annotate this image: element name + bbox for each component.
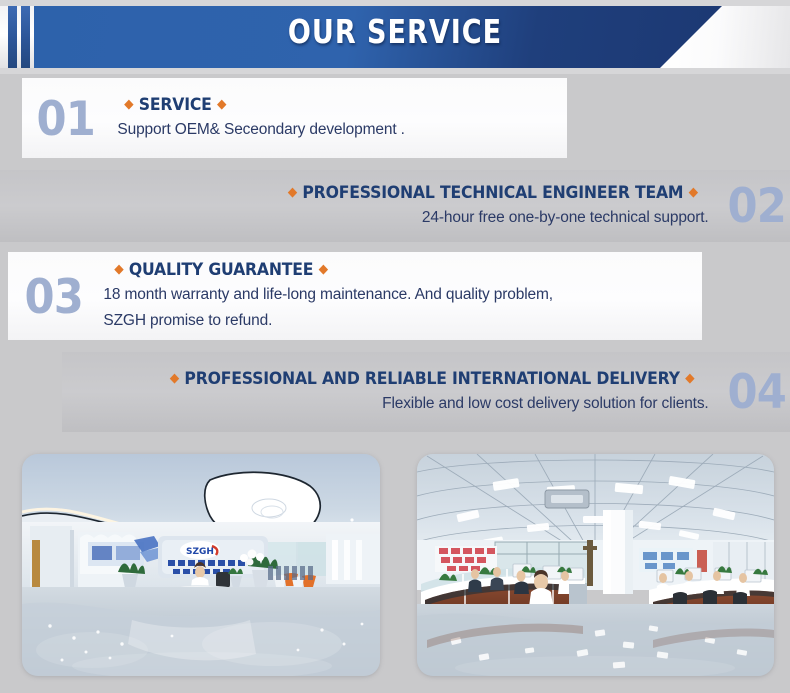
- service-text-04: ◆ PROFESSIONAL AND RELIABLE INTERNATIONA…: [156, 367, 708, 417]
- facility-photo-gallery: SZGH: [0, 444, 790, 693]
- service-text-01: ◆ SERVICE ◆ Support OEM& Seceondary deve…: [117, 93, 404, 143]
- page-header-banner: OUR SERVICE: [0, 0, 790, 74]
- service-number-03: 03: [25, 274, 83, 321]
- banner-accent-bar-1: [8, 6, 17, 68]
- service-row-02: ◆ PROFESSIONAL TECHNICAL ENGINEER TEAM ◆…: [0, 170, 790, 242]
- service-heading-label-01: SERVICE: [139, 95, 212, 114]
- service-heading-03: ◆ QUALITY GUARANTEE ◆: [115, 258, 542, 282]
- service-body-line-01-1: Support OEM& Seceondary development .: [117, 117, 404, 143]
- service-heading-04: ◆ PROFESSIONAL AND RELIABLE INTERNATIONA…: [170, 367, 695, 391]
- service-list: 01 ◆ SERVICE ◆ Support OEM& Seceondary d…: [0, 74, 790, 444]
- diamond-bullet-left-icon: ◆: [170, 371, 179, 386]
- page-title: OUR SERVICE: [71, 10, 719, 54]
- service-body-line-04-1: Flexible and low cost delivery solution …: [156, 391, 708, 417]
- diamond-bullet-left-icon: ◆: [115, 262, 124, 277]
- service-number-02: 02: [727, 183, 785, 230]
- service-text-02: ◆ PROFESSIONAL TECHNICAL ENGINEER TEAM ◆…: [277, 181, 709, 231]
- service-row-04: ◆ PROFESSIONAL AND RELIABLE INTERNATIONA…: [62, 352, 790, 432]
- service-body-line-03-2: SZGH promise to refund.: [103, 308, 553, 334]
- service-body-line-03-1: 18 month warranty and life-long maintena…: [103, 282, 553, 308]
- service-heading-02: ◆ PROFESSIONAL TECHNICAL ENGINEER TEAM ◆: [288, 181, 698, 205]
- banner-accent-bar-2: [21, 6, 30, 68]
- service-row-01: 01 ◆ SERVICE ◆ Support OEM& Seceondary d…: [22, 78, 567, 158]
- service-text-03: ◆ QUALITY GUARANTEE ◆ 18 month warranty …: [103, 258, 553, 334]
- open-plan-office-photo: [417, 454, 774, 676]
- service-row-03: 03 ◆ QUALITY GUARANTEE ◆ 18 month warran…: [8, 252, 702, 340]
- diamond-bullet-right-icon: ◆: [217, 97, 226, 112]
- office-lobby-reception-photo: SZGH: [22, 454, 380, 676]
- svg-text:SZGH: SZGH: [186, 547, 214, 557]
- service-heading-label-02: PROFESSIONAL TECHNICAL ENGINEER TEAM: [302, 183, 683, 202]
- service-number-01: 01: [37, 96, 95, 143]
- diamond-bullet-right-icon: ◆: [685, 371, 694, 386]
- diamond-bullet-left-icon: ◆: [125, 97, 134, 112]
- service-heading-01: ◆ SERVICE ◆: [125, 93, 398, 117]
- service-heading-label-04: PROFESSIONAL AND RELIABLE INTERNATIONAL …: [185, 369, 680, 388]
- service-body-line-02-1: 24-hour free one-by-one technical suppor…: [277, 205, 709, 231]
- diamond-bullet-right-icon: ◆: [319, 262, 328, 277]
- service-number-04: 04: [727, 369, 785, 416]
- diamond-bullet-left-icon: ◆: [288, 185, 297, 200]
- diamond-bullet-right-icon: ◆: [688, 185, 697, 200]
- service-heading-label-03: QUALITY GUARANTEE: [129, 260, 313, 279]
